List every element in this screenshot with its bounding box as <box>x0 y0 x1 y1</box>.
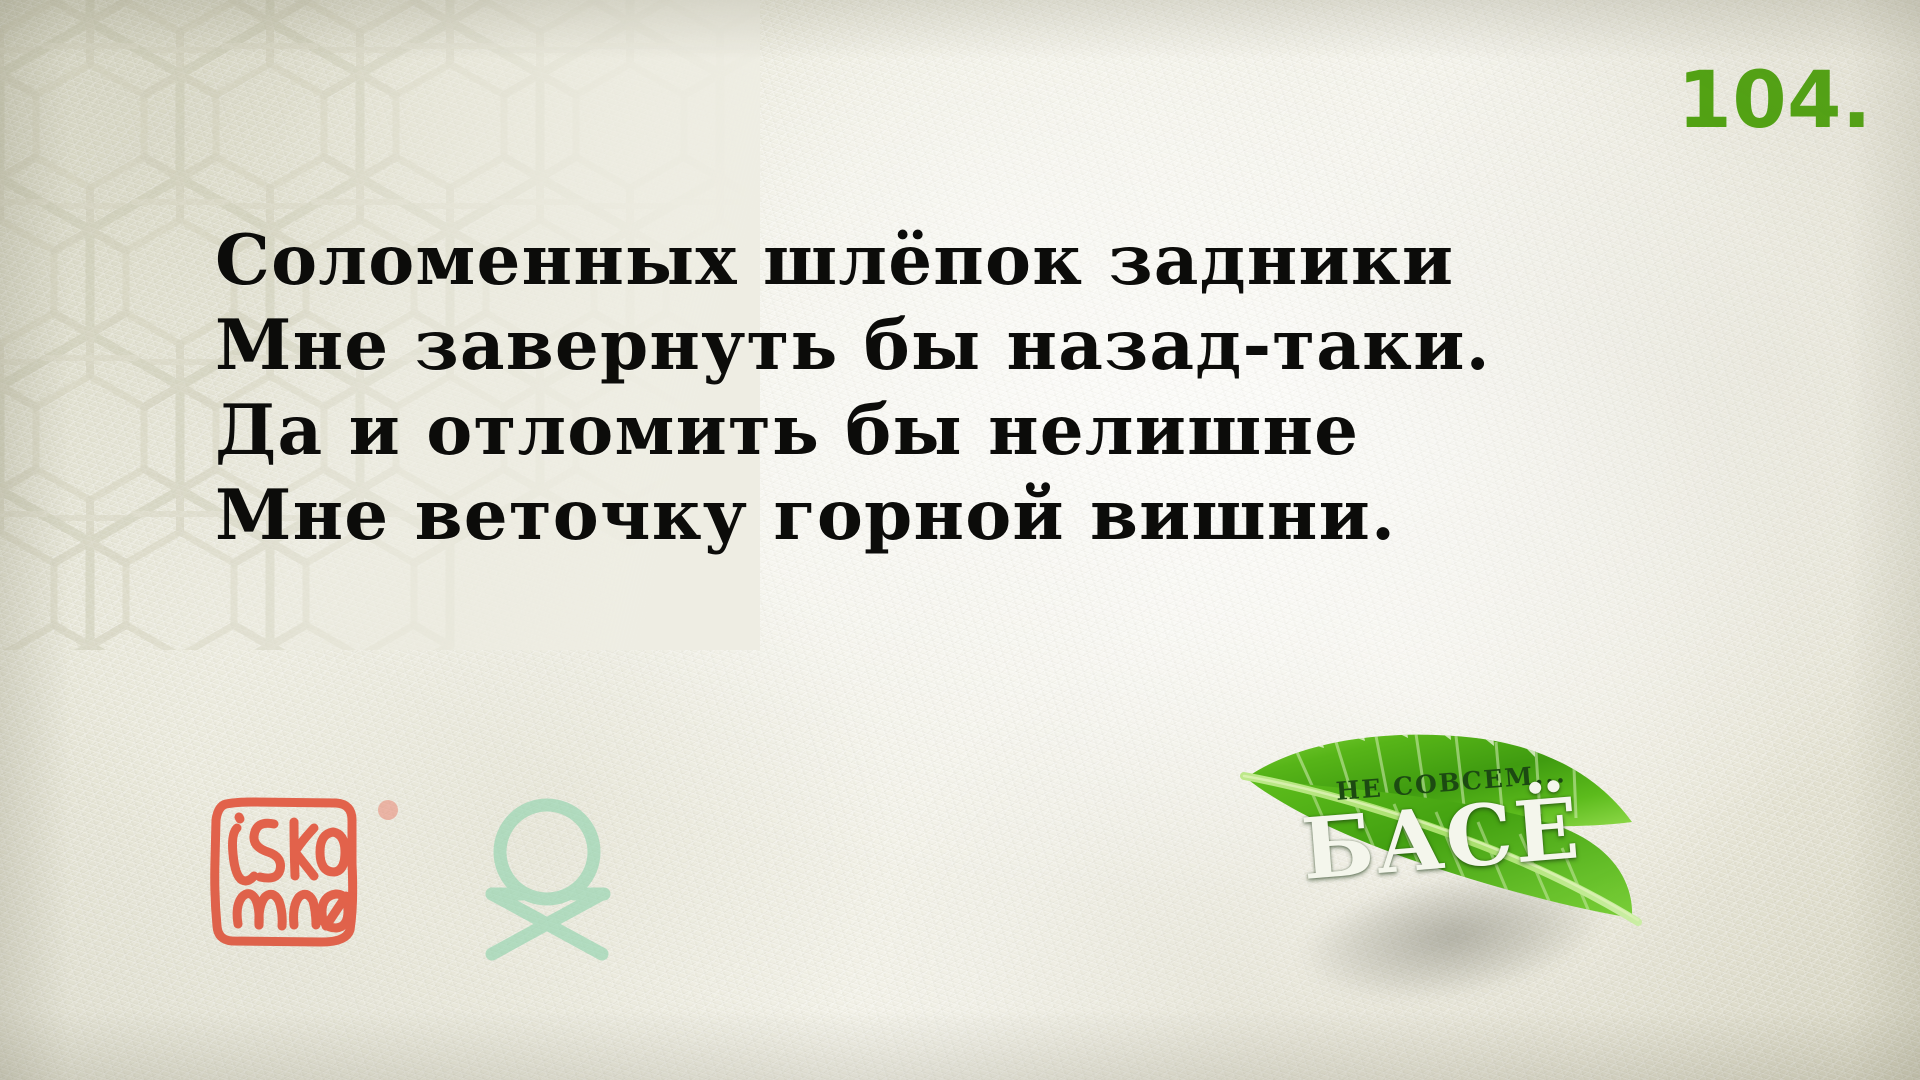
iskonno-seal-icon <box>202 784 372 959</box>
poem-block: Соломенных шлёпок задники Мне завернуть … <box>215 218 1695 558</box>
poem-line-1: Соломенных шлёпок задники <box>215 218 1695 303</box>
haiku-card: 104. Соломенных шлёпок задники Мне завер… <box>0 0 1920 1080</box>
banana-leaf-icon <box>1240 726 1660 976</box>
circle-x-glyph-icon <box>470 786 625 964</box>
poem-line-3: Да и отломить бы нелишне <box>215 388 1695 473</box>
poem-line-4: Мне веточку горной вишни. <box>215 473 1695 558</box>
card-number: 104. <box>1678 62 1872 140</box>
seal-accent-dot <box>378 800 398 820</box>
brand-logo: НЕ СОВСЕМ... БАСЁ <box>1240 726 1660 976</box>
poem-line-2: Мне завернуть бы назад-таки. <box>215 303 1695 388</box>
